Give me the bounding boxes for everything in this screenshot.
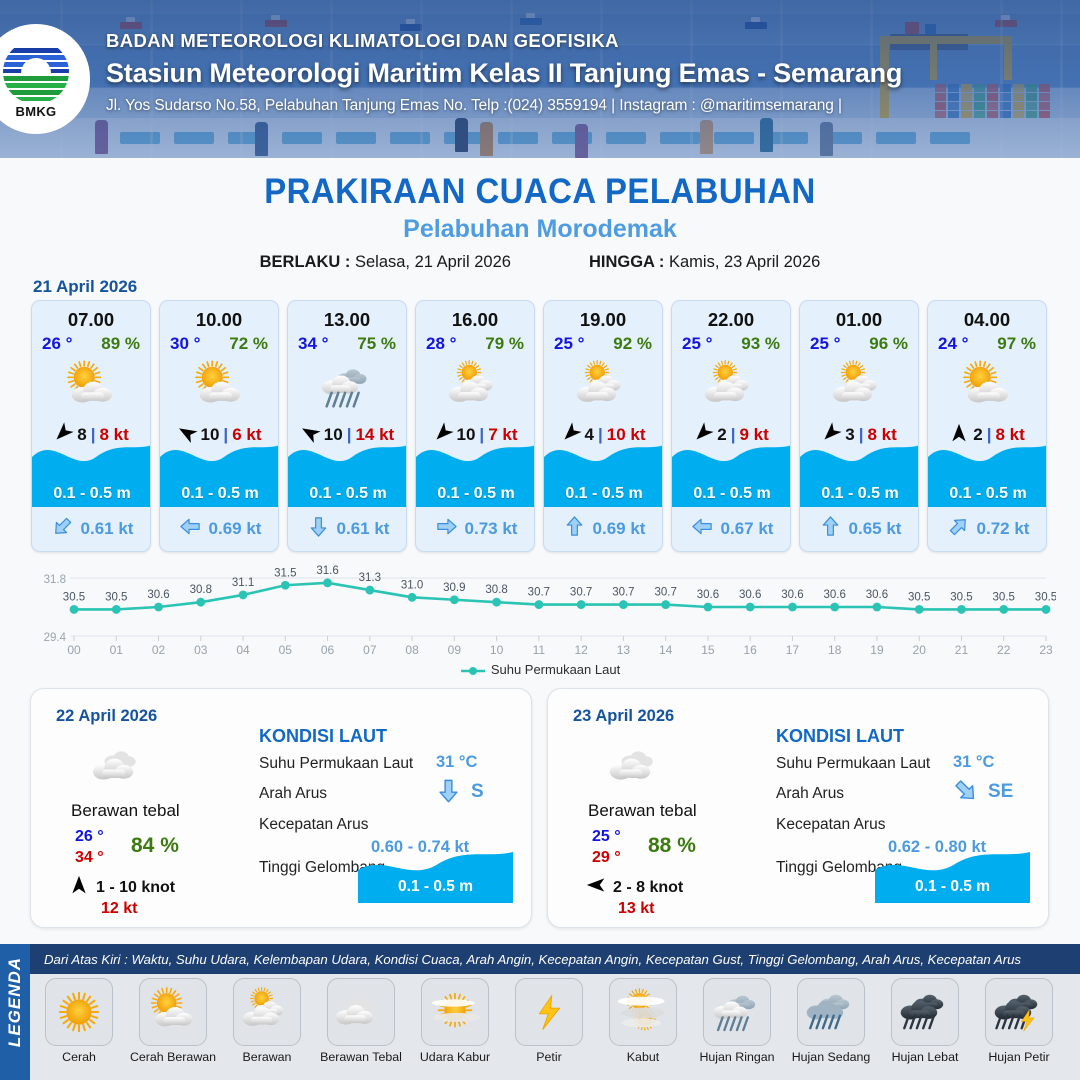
card-humidity: 72 %: [229, 334, 268, 354]
forecast-card: 16.00 28 ° 79 %: [415, 300, 535, 552]
day-condition: Berawan tebal: [588, 801, 697, 821]
legend-item-label: Kabut: [598, 1050, 688, 1064]
logo-emblem: [3, 40, 69, 104]
svg-text:31.8: 31.8: [44, 574, 66, 586]
legend-item: Hujan Sedang: [786, 978, 876, 1064]
svg-text:08: 08: [405, 643, 419, 657]
current-speed-label: Kecepatan Arus: [776, 816, 885, 834]
page-subtitle: Pelabuhan Morodemak: [0, 215, 1080, 244]
legend-note-bar: Dari Atas Kiri : Waktu, Suhu Udara, Kele…: [30, 944, 1080, 974]
svg-text:20: 20: [913, 643, 927, 657]
card-current-speed: 0.61 kt: [337, 519, 390, 539]
current-direction-label: Arah Arus: [776, 785, 844, 803]
card-humidity: 96 %: [869, 334, 908, 354]
weather-hujan-petir-icon: [985, 978, 1053, 1046]
card-humidity: 89 %: [101, 334, 140, 354]
card-current-speed: 0.72 kt: [977, 519, 1030, 539]
svg-text:01: 01: [110, 643, 124, 657]
legend-item: Hujan Petir: [974, 978, 1064, 1064]
svg-text:05: 05: [279, 643, 293, 657]
forecast-card: 10.00 30 ° 72 %: [159, 300, 279, 552]
hourly-forecast-row: 07.00 26 ° 89 %: [31, 300, 1049, 552]
legend-item-label: Berawan Tebal: [316, 1050, 406, 1064]
svg-text:30.6: 30.6: [147, 589, 169, 601]
svg-text:02: 02: [152, 643, 166, 657]
weather-cerah-berawan-icon: [32, 356, 150, 418]
weather-berawan-icon: [416, 356, 534, 418]
card-temperature: 25 °: [810, 334, 840, 354]
weather-berawan-icon: [672, 356, 790, 418]
legend-item-label: Hujan Sedang: [786, 1050, 876, 1064]
card-temperature: 25 °: [554, 334, 584, 354]
day-humidity: 88 %: [648, 834, 696, 858]
svg-text:12: 12: [574, 643, 588, 657]
current-direction-arrow-icon: [179, 515, 202, 543]
card-temperature: 26 °: [42, 334, 72, 354]
day-date: 22 April 2026: [56, 707, 157, 726]
svg-text:30.5: 30.5: [908, 591, 930, 603]
current-direction-label: Arah Arus: [259, 785, 327, 803]
legend-item-label: Hujan Petir: [974, 1050, 1064, 1064]
valid-from-label: BERLAKU :: [260, 253, 351, 271]
svg-text:14: 14: [659, 643, 673, 657]
station-address: Jl. Yos Sudarso No.58, Pelabuhan Tanjung…: [106, 97, 902, 115]
weather-cerah-icon: [45, 978, 113, 1046]
card-temperature: 28 °: [426, 334, 456, 354]
day-condition: Berawan tebal: [71, 801, 180, 821]
chart-legend-label: Suhu Permukaan Laut: [491, 662, 620, 677]
card-time: 19.00: [544, 309, 662, 331]
current-speed-label: Kecepatan Arus: [259, 816, 368, 834]
svg-text:30.7: 30.7: [570, 587, 592, 599]
sst-label: Suhu Permukaan Laut: [259, 755, 413, 773]
svg-text:10: 10: [490, 643, 504, 657]
svg-text:18: 18: [828, 643, 842, 657]
card-time: 13.00: [288, 309, 406, 331]
wave-graphic: 0.1 - 0.5 m: [875, 848, 1030, 903]
legend-side-title: LEGENDA: [5, 949, 25, 1055]
svg-text:30.6: 30.6: [866, 589, 888, 601]
card-current-row: 0.67 kt: [672, 511, 791, 547]
weather-berawan-tebal-icon: [91, 737, 149, 800]
day-humidity: 84 %: [131, 834, 179, 858]
card-wave-height: 0.1 - 0.5 m: [800, 485, 919, 503]
card-humidity: 75 %: [357, 334, 396, 354]
card-temperature: 25 °: [682, 334, 712, 354]
validity-row: BERLAKU : Selasa, 21 April 2026 HINGGA :…: [0, 253, 1080, 272]
weather-berawan-icon: [544, 356, 662, 418]
svg-text:30.5: 30.5: [993, 591, 1015, 603]
svg-text:30.5: 30.5: [63, 591, 85, 603]
svg-text:30.6: 30.6: [824, 589, 846, 601]
current-direction-arrow-icon: [819, 515, 842, 543]
legend-item-label: Hujan Ringan: [692, 1050, 782, 1064]
svg-text:29.4: 29.4: [44, 632, 67, 644]
logo-text: BMKG: [3, 104, 69, 119]
card-temperature: 34 °: [298, 334, 328, 354]
weather-berawan-tebal-icon: [327, 978, 395, 1046]
card-humidity: 93 %: [741, 334, 780, 354]
card-time: 01.00: [800, 309, 918, 331]
svg-text:30.5: 30.5: [105, 591, 127, 603]
card-current-row: 0.69 kt: [544, 511, 663, 547]
card-current-speed: 0.69 kt: [209, 519, 262, 539]
legend-item-label: Hujan Lebat: [880, 1050, 970, 1064]
card-temperature: 24 °: [938, 334, 968, 354]
svg-text:06: 06: [321, 643, 335, 657]
valid-from-value: Selasa, 21 April 2026: [355, 253, 511, 271]
wave-height-value: 0.1 - 0.5 m: [358, 878, 513, 896]
legend-item: Udara Kabur: [410, 978, 500, 1064]
card-current-speed: 0.65 kt: [849, 519, 902, 539]
svg-text:30.6: 30.6: [697, 589, 719, 601]
valid-to-value: Kamis, 23 April 2026: [669, 253, 820, 271]
current-direction-arrow-icon: [952, 777, 979, 809]
svg-text:22: 22: [997, 643, 1011, 657]
svg-text:30.5: 30.5: [1035, 591, 1056, 603]
chart-legend: Suhu Permukaan Laut: [0, 662, 1080, 677]
svg-text:23: 23: [1039, 643, 1053, 657]
sst-value: 31 °C: [953, 753, 994, 772]
day-date: 23 April 2026: [573, 707, 674, 726]
weather-kabut-icon: [609, 978, 677, 1046]
day-gust: 12 kt: [101, 900, 137, 918]
svg-text:30.7: 30.7: [612, 587, 634, 599]
day-wind-range: 2 - 8 knot: [613, 879, 683, 897]
card-current-speed: 0.67 kt: [721, 519, 774, 539]
current-direction-arrow-icon: [307, 515, 330, 543]
card-wave-height: 0.1 - 0.5 m: [160, 485, 279, 503]
legend-item-label: Petir: [504, 1050, 594, 1064]
legend-note-text: Dari Atas Kiri : Waktu, Suhu Udara, Kele…: [30, 952, 1021, 967]
day-gust: 13 kt: [618, 900, 654, 918]
weather-berawan-icon: [233, 978, 301, 1046]
header-text-block: BADAN METEOROLOGI KLIMATOLOGI DAN GEOFIS…: [106, 30, 902, 115]
sst-value: 31 °C: [436, 753, 477, 772]
svg-text:09: 09: [448, 643, 462, 657]
wave-height-value: 0.1 - 0.5 m: [875, 878, 1030, 896]
svg-text:16: 16: [743, 643, 757, 657]
card-current-row: 0.65 kt: [800, 511, 919, 547]
forecast-date-label: 21 April 2026: [33, 277, 137, 297]
wind-direction-arrow-icon: [586, 875, 606, 900]
forecast-card: 13.00 34 ° 75 %: [287, 300, 407, 552]
agency-name: BADAN METEOROLOGI KLIMATOLOGI DAN GEOFIS…: [106, 30, 902, 52]
card-humidity: 97 %: [997, 334, 1036, 354]
card-wave-height: 0.1 - 0.5 m: [672, 485, 791, 503]
legend-side-tab: LEGENDA: [0, 944, 30, 1080]
svg-text:31.5: 31.5: [274, 567, 296, 579]
svg-text:30.7: 30.7: [654, 587, 676, 599]
legend-item-label: Cerah: [34, 1050, 124, 1064]
forecast-card: 19.00 25 ° 92 %: [543, 300, 663, 552]
weather-cerah-berawan-icon: [139, 978, 207, 1046]
card-current-speed: 0.61 kt: [81, 519, 134, 539]
day-wind-row: 2 - 8 knot: [586, 875, 683, 900]
current-direction-arrow-icon: [563, 515, 586, 543]
svg-text:04: 04: [236, 643, 250, 657]
weather-berawan-tebal-icon: [608, 737, 666, 800]
legend-item: Cerah: [34, 978, 124, 1064]
svg-text:17: 17: [786, 643, 800, 657]
card-current-speed: 0.69 kt: [593, 519, 646, 539]
forecast-card: 04.00 24 ° 97 %: [927, 300, 1047, 552]
infographic-page: BMKG BADAN METEOROLOGI KLIMATOLOGI DAN G…: [0, 0, 1080, 1080]
svg-text:30.7: 30.7: [528, 587, 550, 599]
forecast-card: 01.00 25 ° 96 %: [799, 300, 919, 552]
day-temp-max: 29 °: [592, 849, 621, 867]
svg-text:00: 00: [67, 643, 81, 657]
legend-item: Petir: [504, 978, 594, 1064]
svg-text:31.0: 31.0: [401, 579, 423, 591]
card-time: 10.00: [160, 309, 278, 331]
legend-section: LEGENDA Dari Atas Kiri : Waktu, Suhu Uda…: [0, 944, 1080, 1080]
weather-hujan-ringan-icon: [288, 356, 406, 418]
card-current-row: 0.61 kt: [288, 511, 407, 547]
svg-text:30.6: 30.6: [781, 589, 803, 601]
wave-graphic: 0.1 - 0.5 m: [358, 848, 513, 903]
svg-text:30.9: 30.9: [443, 582, 465, 594]
svg-text:07: 07: [363, 643, 377, 657]
card-current-row: 0.69 kt: [160, 511, 279, 547]
card-current-row: 0.61 kt: [32, 511, 151, 547]
card-current-speed: 0.73 kt: [465, 519, 518, 539]
card-time: 22.00: [672, 309, 790, 331]
header-banner: BMKG BADAN METEOROLOGI KLIMATOLOGI DAN G…: [0, 0, 1080, 158]
svg-text:30.5: 30.5: [950, 591, 972, 603]
legend-items: Cerah Cerah Berawan: [34, 978, 1078, 1064]
day-wind-range: 1 - 10 knot: [96, 879, 175, 897]
weather-hujan-lebat-icon: [891, 978, 959, 1046]
weather-berawan-icon: [800, 356, 918, 418]
sst-label: Suhu Permukaan Laut: [776, 755, 930, 773]
sea-condition-title: KONDISI LAUT: [259, 726, 387, 747]
svg-text:30.8: 30.8: [190, 584, 212, 596]
card-humidity: 79 %: [485, 334, 524, 354]
card-time: 07.00: [32, 309, 150, 331]
current-direction-value: S: [471, 781, 484, 803]
card-wave-height: 0.1 - 0.5 m: [288, 485, 407, 503]
current-direction-arrow-icon: [435, 777, 462, 809]
day-wind-row: 1 - 10 knot: [69, 875, 175, 900]
station-name: Stasiun Meteorologi Maritim Kelas II Tan…: [106, 58, 902, 89]
svg-text:31.6: 31.6: [316, 565, 338, 577]
forecast-card: 22.00 25 ° 93 %: [671, 300, 791, 552]
svg-text:11: 11: [533, 643, 546, 657]
svg-text:30.8: 30.8: [485, 584, 507, 596]
svg-text:21: 21: [955, 643, 969, 657]
weather-petir-icon: [515, 978, 583, 1046]
card-wave-height: 0.1 - 0.5 m: [32, 485, 151, 503]
svg-text:15: 15: [701, 643, 715, 657]
current-direction-arrow-icon: [947, 515, 970, 543]
current-direction-value: SE: [988, 781, 1013, 803]
current-direction-arrow-icon: [691, 515, 714, 543]
day-temp-min: 26 °: [75, 828, 104, 846]
page-title: PRAKIRAAN CUACA PELABUHAN: [32, 172, 1047, 212]
card-time: 16.00: [416, 309, 534, 331]
day-temp-max: 34 °: [75, 849, 104, 867]
legend-item: Hujan Lebat: [880, 978, 970, 1064]
forecast-card: 07.00 26 ° 89 %: [31, 300, 151, 552]
legend-marker-icon: [460, 665, 486, 677]
legend-item: Hujan Ringan: [692, 978, 782, 1064]
legend-item: Berawan: [222, 978, 312, 1064]
weather-udara-kabur-icon: [421, 978, 489, 1046]
current-direction-arrow-icon: [435, 515, 458, 543]
card-wave-height: 0.1 - 0.5 m: [416, 485, 535, 503]
weather-hujan-ringan-icon: [703, 978, 771, 1046]
title-block: PRAKIRAAN CUACA PELABUHAN Pelabuhan Moro…: [0, 158, 1080, 272]
wind-direction-arrow-icon: [69, 875, 89, 900]
day-temp-min: 25 °: [592, 828, 621, 846]
legend-item: Berawan Tebal: [316, 978, 406, 1064]
current-direction-arrow-icon: [51, 515, 74, 543]
sea-condition-title: KONDISI LAUT: [776, 726, 904, 747]
card-current-row: 0.72 kt: [928, 511, 1047, 547]
daily-forecast-row: 22 April 2026 Berawan tebal 26 °: [30, 688, 1050, 928]
svg-text:30.6: 30.6: [739, 589, 761, 601]
svg-text:19: 19: [870, 643, 884, 657]
legend-item: Cerah Berawan: [128, 978, 218, 1064]
card-current-row: 0.73 kt: [416, 511, 535, 547]
legend-item-label: Berawan: [222, 1050, 312, 1064]
daily-forecast-panel: 22 April 2026 Berawan tebal 26 °: [30, 688, 532, 928]
card-humidity: 92 %: [613, 334, 652, 354]
valid-to-label: HINGGA :: [589, 253, 664, 271]
legend-item-label: Udara Kabur: [410, 1050, 500, 1064]
svg-text:31.3: 31.3: [359, 572, 381, 584]
card-temperature: 30 °: [170, 334, 200, 354]
svg-text:03: 03: [194, 643, 208, 657]
daily-forecast-panel: 23 April 2026 Berawan tebal 25 °: [547, 688, 1049, 928]
legend-item: Kabut: [598, 978, 688, 1064]
weather-cerah-berawan-icon: [928, 356, 1046, 418]
card-time: 04.00: [928, 309, 1046, 331]
svg-text:31.1: 31.1: [232, 577, 254, 589]
card-wave-height: 0.1 - 0.5 m: [928, 485, 1047, 503]
weather-hujan-sedang-icon: [797, 978, 865, 1046]
weather-cerah-berawan-icon: [160, 356, 278, 418]
legend-item-label: Cerah Berawan: [128, 1050, 218, 1064]
svg-text:13: 13: [617, 643, 631, 657]
card-wave-height: 0.1 - 0.5 m: [544, 485, 663, 503]
